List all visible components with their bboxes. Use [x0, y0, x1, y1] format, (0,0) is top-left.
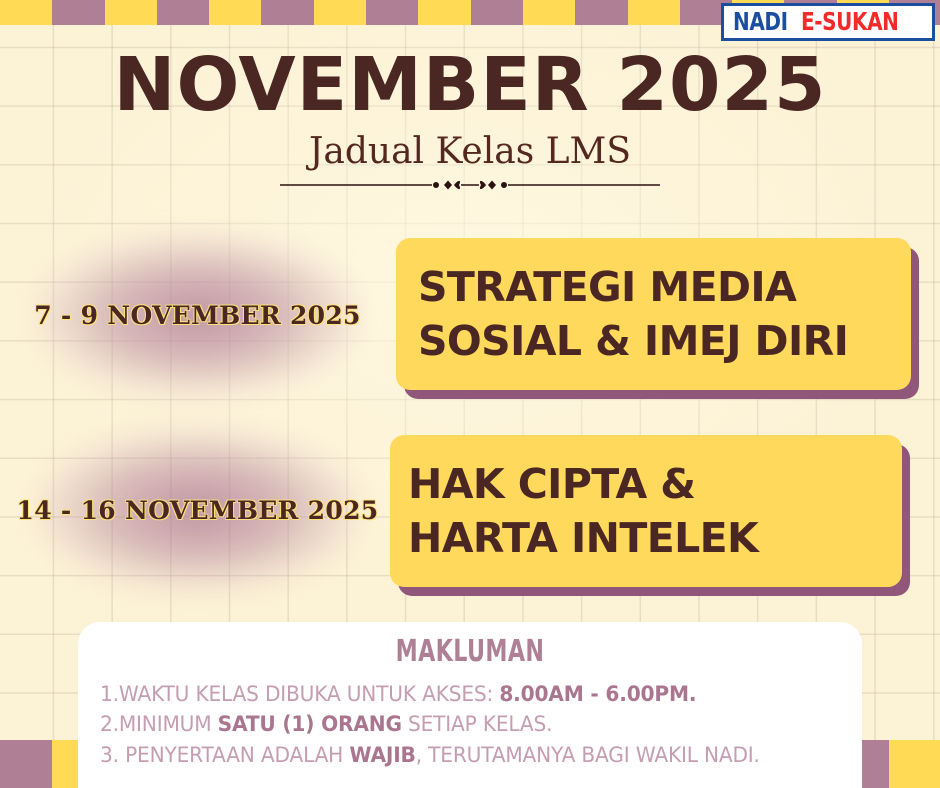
event-card-2-line2: HARTA INTELEK — [408, 511, 884, 565]
notice-item-3-pre: 3. PENYERTAAN ADALAH — [100, 743, 349, 767]
event-row-2: 14 - 16 NOVEMBER 2025 HAK CIPTA & HARTA … — [0, 428, 940, 593]
checker-square — [314, 0, 366, 25]
checker-square — [209, 0, 261, 25]
notice-item-1-bold: 8.00AM - 6.00PM. — [499, 682, 696, 706]
nadi-esukan-logo: NADIE-SUKAN — [721, 3, 935, 41]
event-date-1: 7 - 9 NOVEMBER 2025 — [0, 233, 395, 398]
checker-square — [418, 0, 470, 25]
notice-item-1-pre: 1.WAKTU KELAS DIBUKA UNTUK AKSES: — [100, 682, 499, 706]
checker-square — [261, 0, 313, 25]
checker-square — [105, 0, 157, 25]
notice-item-2-post: SETIAP KELAS. — [402, 712, 553, 736]
logo-text-esukan: E-SUKAN — [801, 9, 899, 34]
ornamental-divider — [280, 178, 660, 192]
event-row-1: 7 - 9 NOVEMBER 2025 STRATEGI MEDIA SOSIA… — [0, 233, 940, 398]
checker-square — [471, 0, 523, 25]
notice-item-2-bold: SATU (1) ORANG — [218, 712, 402, 736]
checker-square — [889, 740, 940, 788]
logo-text-nadi: NADI — [733, 9, 788, 34]
notice-title: MAKLUMAN — [180, 637, 760, 667]
notice-item-1: 1.WAKTU KELAS DIBUKA UNTUK AKSES: 8.00AM… — [100, 679, 832, 709]
notice-list: 1.WAKTU KELAS DIBUKA UNTUK AKSES: 8.00AM… — [78, 679, 862, 770]
event-date-1-text: 7 - 9 NOVEMBER 2025 — [34, 301, 361, 330]
notice-item-2: 2.MINIMUM SATU (1) ORANG SETIAP KELAS. — [100, 709, 832, 739]
notice-item-3-post: , TERUTAMANYA BAGI WAKIL NADI. — [416, 743, 760, 767]
checker-square — [157, 0, 209, 25]
event-card-1-line2: SOSIAL & IMEJ DIRI — [418, 314, 889, 368]
poster-canvas: NADIE-SUKAN NOVEMBER 2025 Jadual Kelas L… — [0, 0, 940, 788]
event-date-2-text: 14 - 16 NOVEMBER 2025 — [17, 496, 379, 525]
checker-square — [628, 0, 680, 25]
notice-item-3: 3. PENYERTAAN ADALAH WAJIB, TERUTAMANYA … — [100, 740, 832, 770]
checker-square — [0, 0, 52, 25]
page-subtitle: Jadual Kelas LMS — [0, 132, 940, 172]
checker-square — [366, 0, 418, 25]
header-block: NOVEMBER 2025 Jadual Kelas LMS — [0, 48, 940, 172]
page-title: NOVEMBER 2025 — [0, 48, 940, 122]
event-card-1[interactable]: STRATEGI MEDIA SOSIAL & IMEJ DIRI — [396, 238, 911, 390]
checker-square — [575, 0, 627, 25]
event-date-2: 14 - 16 NOVEMBER 2025 — [0, 428, 395, 593]
checker-square — [523, 0, 575, 25]
notice-item-3-bold: WAJIB — [349, 743, 415, 767]
event-card-2-line1: HAK CIPTA & — [408, 457, 884, 511]
event-card-1-line1: STRATEGI MEDIA — [418, 260, 889, 314]
notice-panel: MAKLUMAN 1.WAKTU KELAS DIBUKA UNTUK AKSE… — [78, 622, 862, 788]
checker-square — [52, 0, 104, 25]
checker-square — [0, 740, 52, 788]
notice-item-2-pre: 2.MINIMUM — [100, 712, 218, 736]
event-card-2[interactable]: HAK CIPTA & HARTA INTELEK — [390, 435, 902, 587]
